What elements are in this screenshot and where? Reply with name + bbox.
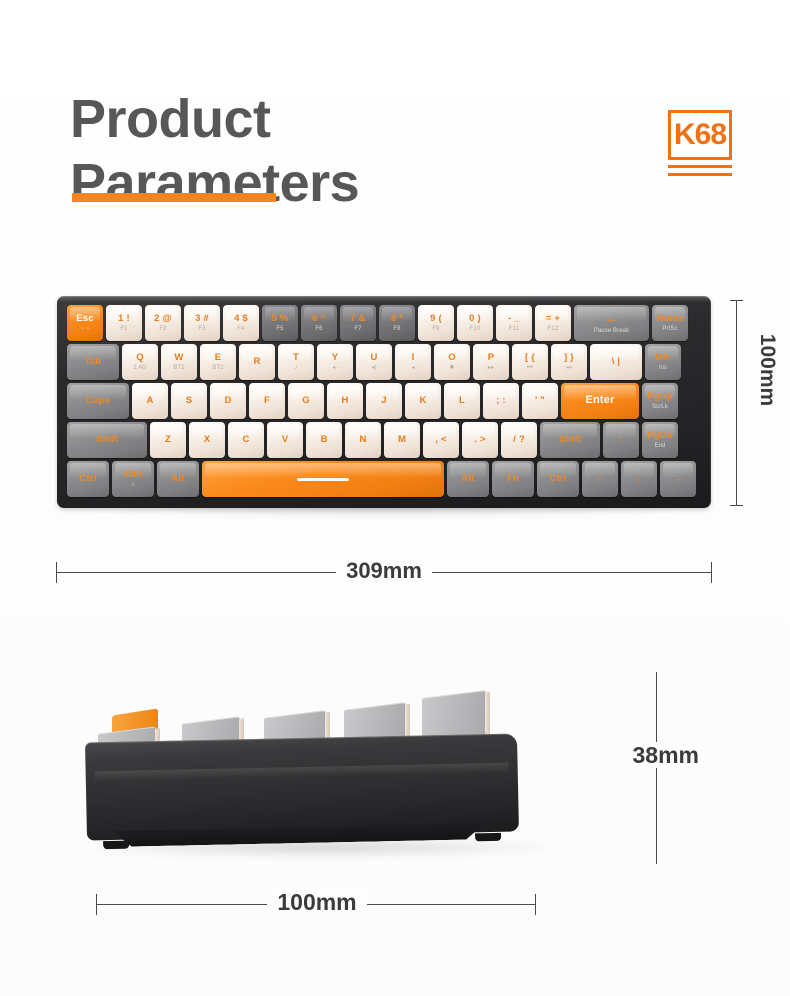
key-x[interactable]: X xyxy=(189,422,225,458)
key-legend-primary: 2 @ xyxy=(154,314,172,324)
key-legend-primary: \ | xyxy=(612,357,621,367)
dimension-top-view-width: 309mm xyxy=(52,552,716,588)
dimension-label-depth: 100mm xyxy=(755,325,779,415)
key-legend-secondary: ~ ~ xyxy=(81,326,90,333)
key-legend-primary: J xyxy=(381,396,386,406)
key-legend-primary: ← xyxy=(604,311,619,326)
key-legend-primary: , < xyxy=(435,435,446,445)
key-legend-primary: Win xyxy=(124,470,142,480)
keyboard-key-grid: Esc~ ~1 !F12 @F23 #F34 $F45 %F56 ^F67 &F… xyxy=(67,305,701,499)
key-space[interactable]: = +F12 xyxy=(535,305,571,341)
key-legend-primary: / ? xyxy=(513,435,525,445)
key-w[interactable]: WBT1 xyxy=(161,344,197,380)
key-space[interactable] xyxy=(202,461,444,497)
key-space[interactable]: ← xyxy=(582,461,618,497)
key-legend-primary: Z xyxy=(165,435,171,445)
key-u[interactable]: U◂) xyxy=(356,344,392,380)
key-space[interactable]: → xyxy=(660,461,696,497)
key-6[interactable]: 6 ^F6 xyxy=(301,305,337,341)
key-legend-primary: 1 ! xyxy=(118,314,130,324)
badge-rule-1 xyxy=(668,165,732,168)
dimension-label-width-wrap: 309mm xyxy=(52,558,716,584)
page-title-line-1: Product xyxy=(70,88,590,152)
key-legend-primary: = + xyxy=(546,314,560,324)
key-pgdn[interactable]: PgDnEnd xyxy=(642,422,678,458)
key-home[interactable]: HomePrtSc xyxy=(652,305,688,341)
key-legend-secondary: ⌂ xyxy=(131,482,135,489)
key-h[interactable]: H xyxy=(327,383,363,419)
key-legend-primary: G xyxy=(302,396,310,406)
key-space[interactable]: ' " xyxy=(522,383,558,419)
key-d[interactable]: D xyxy=(210,383,246,419)
key-alt[interactable]: Alt xyxy=(157,461,199,497)
key-8[interactable]: 8 *F8 xyxy=(379,305,415,341)
key-legend-secondary: ⏭ xyxy=(566,365,572,372)
key-b[interactable]: B xyxy=(306,422,342,458)
key-legend-secondary: BT2 xyxy=(212,365,223,372)
keyboard-top-view: Esc~ ~1 !F12 @F23 #F34 $F45 %F56 ^F67 &F… xyxy=(57,296,711,510)
key-c[interactable]: C xyxy=(228,422,264,458)
key-legend-primary: Del xyxy=(655,353,670,363)
key-legend-primary: M xyxy=(398,435,406,445)
key-legend-primary: P xyxy=(488,353,495,363)
key-legend-primary: Caps xyxy=(86,396,110,406)
keyboard-row-2: CapsASDFGHJKL; :' "EnterPgUpScrLk xyxy=(67,383,678,419)
keyboard-foot-left xyxy=(103,841,129,850)
key-legend-primary: F xyxy=(264,396,270,406)
dimension-line-vertical xyxy=(736,300,737,506)
key-s[interactable]: S xyxy=(171,383,207,419)
key-legend-primary: C xyxy=(242,435,249,445)
key-legend-primary: ; : xyxy=(496,396,506,406)
key-legend-primary: 7 & xyxy=(350,314,365,324)
key-legend-secondary: ◂· xyxy=(332,365,337,372)
header-section: Product Parameters K68 xyxy=(0,0,790,250)
key-4[interactable]: 4 $F4 xyxy=(223,305,259,341)
dimension-label-depth2: 100mm xyxy=(267,889,366,915)
key-legend-secondary: 2.4G xyxy=(133,365,146,372)
key-legend-primary: → xyxy=(673,474,683,484)
key-legend-primary: Alt xyxy=(171,474,184,484)
key-legend-primary: Ctrl xyxy=(79,474,96,484)
key-legend-primary: B xyxy=(320,435,327,445)
key-a[interactable]: A xyxy=(132,383,168,419)
key-5[interactable]: 5 %F5 xyxy=(262,305,298,341)
key-enter[interactable]: Enter xyxy=(561,383,639,419)
key-legend-primary: 3 # xyxy=(195,314,209,324)
dimension-side-view-depth: 100mm xyxy=(92,884,542,920)
product-badge-label: K68 xyxy=(674,120,726,150)
key-tab[interactable]: Tab xyxy=(67,344,119,380)
key-fn[interactable]: Fn xyxy=(492,461,534,497)
key-legend-primary: Alt xyxy=(461,474,474,484)
key-space[interactable]: . > xyxy=(462,422,498,458)
key-k[interactable]: K xyxy=(405,383,441,419)
keyboard-row-3: ShiftZXCVBNM, <. >/ ?Shift↑PgDnEnd xyxy=(67,422,678,458)
key-legend-primary: ] } xyxy=(564,353,574,363)
key-legend-primary: A xyxy=(146,396,153,406)
key-j[interactable]: J xyxy=(366,383,402,419)
key-legend-secondary: F7 xyxy=(354,326,361,333)
key-space[interactable]: , < xyxy=(423,422,459,458)
key-legend-secondary: ⏮ xyxy=(527,365,533,372)
key-win[interactable]: Win⌂ xyxy=(112,461,154,497)
key-legend-primary: ↓ xyxy=(637,474,642,484)
product-badge-box: K68 xyxy=(668,110,732,160)
key-legend-secondary: End xyxy=(655,443,666,450)
key-n[interactable]: N xyxy=(345,422,381,458)
key-z[interactable]: Z xyxy=(150,422,186,458)
key-l[interactable]: L xyxy=(444,383,480,419)
key-legend-primary: PgDn xyxy=(647,431,673,441)
key-space[interactable]: ↓ xyxy=(621,461,657,497)
key-legend-primary: ← xyxy=(595,474,605,484)
dimension-side-view-height: 38mm xyxy=(600,672,720,872)
key-legend-primary: 9 ( xyxy=(430,314,442,324)
key-g[interactable]: G xyxy=(288,383,324,419)
spacebar-indicator xyxy=(297,478,349,481)
key-legend-secondary: F10 xyxy=(470,326,481,333)
key-ctrl[interactable]: Ctrl xyxy=(67,461,109,497)
key-ctrl[interactable]: Ctrl xyxy=(537,461,579,497)
keyboard-case: Esc~ ~1 !F12 @F23 #F34 $F45 %F56 ^F67 &F… xyxy=(57,296,711,508)
keyboard-row-4: CtrlWin⌂AltAltFnCtrl←↓→ xyxy=(67,461,696,498)
key-legend-primary: 8 * xyxy=(391,314,403,324)
key-m[interactable]: M xyxy=(384,422,420,458)
key-legend-primary: D xyxy=(224,396,231,406)
key-legend-primary: Fn xyxy=(507,474,519,484)
key-alt[interactable]: Alt xyxy=(447,461,489,497)
key-space[interactable]: \ | xyxy=(590,344,642,380)
key-space[interactable]: ; : xyxy=(483,383,519,419)
key-legend-secondary: PrtSc xyxy=(662,326,677,333)
key-e[interactable]: EBT2 xyxy=(200,344,236,380)
key-space[interactable]: ] }⏭ xyxy=(551,344,587,380)
key-legend-primary: 5 % xyxy=(272,314,289,324)
keyboard-side-body xyxy=(85,733,519,840)
key-legend-primary: S xyxy=(186,396,193,406)
key-legend-primary: Ctrl xyxy=(549,474,566,484)
key-legend-primary: L xyxy=(459,396,465,406)
key-legend-primary: ↑ xyxy=(619,435,624,445)
key-legend-primary: R xyxy=(253,357,260,367)
key-legend-primary: X xyxy=(204,435,211,445)
key-legend-secondary: F5 xyxy=(276,326,283,333)
key-space[interactable]: ←Pause Break xyxy=(574,305,649,341)
key-legend-primary: . > xyxy=(474,435,485,445)
key-legend-primary: - _ xyxy=(508,314,520,324)
keyboard-foot-right xyxy=(475,833,501,842)
key-3[interactable]: 3 #F3 xyxy=(184,305,220,341)
key-legend-secondary: ◂) xyxy=(371,365,376,372)
key-legend-primary: Tab xyxy=(85,357,102,367)
key-r[interactable]: R xyxy=(239,344,275,380)
keyboard-row-0: Esc~ ~1 !F12 @F23 #F34 $F45 %F56 ^F67 &F… xyxy=(67,305,688,341)
key-legend-primary: 0 ) xyxy=(469,314,481,324)
key-legend-primary: Esc xyxy=(76,314,94,324)
key-v[interactable]: V xyxy=(267,422,303,458)
key-y[interactable]: Y◂· xyxy=(317,344,353,380)
key-legend-primary: Shift xyxy=(96,435,118,445)
key-esc[interactable]: Esc~ ~ xyxy=(67,305,103,341)
key-legend-primary: [ { xyxy=(525,353,535,363)
key-9[interactable]: 9 (F9 xyxy=(418,305,454,341)
key-q[interactable]: Q2.4G xyxy=(122,344,158,380)
key-legend-secondary: ◂ xyxy=(411,365,414,372)
key-legend-primary: Y xyxy=(332,353,339,363)
badge-rule-2 xyxy=(668,173,732,176)
key-shift[interactable]: Shift xyxy=(540,422,600,458)
key-space[interactable]: [ {⏮ xyxy=(512,344,548,380)
key-0[interactable]: 0 )F10 xyxy=(457,305,493,341)
key-space[interactable]: ↑ xyxy=(603,422,639,458)
key-legend-secondary: F1 xyxy=(120,326,127,333)
key-o[interactable]: O✹ xyxy=(434,344,470,380)
title-underline-accent xyxy=(72,193,276,202)
key-legend-primary: O xyxy=(448,353,456,363)
key-legend-secondary: F6 xyxy=(315,326,322,333)
key-legend-primary: I xyxy=(412,353,415,363)
dimension-label-height: 38mm xyxy=(627,742,705,768)
key-legend-primary: Enter xyxy=(585,395,614,407)
keyboard-row-1: TabQ2.4GWBT1EBT2RT♪Y◂·U◂)I◂O✹P▸▸[ {⏮] }⏭… xyxy=(67,344,681,380)
key-legend-primary: K xyxy=(419,396,426,406)
key-legend-primary: W xyxy=(174,353,183,363)
key-legend-primary: E xyxy=(215,353,222,363)
key-space[interactable]: - _F11 xyxy=(496,305,532,341)
key-legend-primary: H xyxy=(341,396,348,406)
key-pgup[interactable]: PgUpScrLk xyxy=(642,383,678,419)
key-legend-secondary: BT1 xyxy=(173,365,184,372)
key-legend-secondary: F4 xyxy=(237,326,244,333)
key-1[interactable]: 1 !F1 xyxy=(106,305,142,341)
key-shift[interactable]: Shift xyxy=(67,422,147,458)
page-title-line-2: Parameters xyxy=(70,152,359,216)
key-legend-primary: ' " xyxy=(535,396,545,406)
dimension-label-width: 309mm xyxy=(336,558,432,583)
key-del[interactable]: DelIns xyxy=(645,344,681,380)
key-p[interactable]: P▸▸ xyxy=(473,344,509,380)
dimension-top-view-depth: 100mm xyxy=(730,296,790,510)
key-legend-primary: 4 $ xyxy=(234,314,248,324)
key-legend-primary: V xyxy=(282,435,289,445)
key-t[interactable]: T♪ xyxy=(278,344,314,380)
key-2[interactable]: 2 @F2 xyxy=(145,305,181,341)
key-i[interactable]: I◂ xyxy=(395,344,431,380)
key-legend-secondary: F8 xyxy=(393,326,400,333)
key-legend-primary: PgUp xyxy=(647,392,673,402)
key-caps[interactable]: Caps xyxy=(67,383,129,419)
side-keycap-5-edge xyxy=(485,691,490,737)
key-f[interactable]: F xyxy=(249,383,285,419)
key-legend-secondary: F12 xyxy=(548,326,559,333)
key-legend-secondary: Ins xyxy=(659,365,667,372)
key-legend-primary: T xyxy=(293,353,299,363)
dimension-label-depth2-wrap: 100mm xyxy=(92,889,542,916)
key-space[interactable]: / ? xyxy=(501,422,537,458)
key-legend-primary: 6 ^ xyxy=(312,314,326,324)
key-legend-secondary: F9 xyxy=(432,326,439,333)
dimension-label-height-wrap: 38mm xyxy=(595,742,713,769)
dimension-tick-bottom xyxy=(730,505,743,506)
key-legend-primary: N xyxy=(359,435,366,445)
key-legend-secondary: F11 xyxy=(509,326,519,333)
product-badge: K68 xyxy=(668,110,736,176)
key-legend-secondary: ScrLk xyxy=(652,404,668,411)
key-legend-primary: Shift xyxy=(559,435,581,445)
key-legend-secondary: F3 xyxy=(198,326,205,333)
keyboard-side-view xyxy=(86,668,566,868)
key-7[interactable]: 7 &F7 xyxy=(340,305,376,341)
key-legend-secondary: ♪ xyxy=(294,365,297,372)
key-legend-secondary: F2 xyxy=(159,326,166,333)
key-legend-primary: U xyxy=(370,353,377,363)
key-legend-secondary: ✹ xyxy=(449,365,454,372)
key-legend-secondary: ▸▸ xyxy=(488,365,494,372)
key-legend-primary: Q xyxy=(136,353,144,363)
key-legend-primary: Home xyxy=(656,314,683,324)
key-legend-secondary: Pause Break xyxy=(594,328,629,335)
